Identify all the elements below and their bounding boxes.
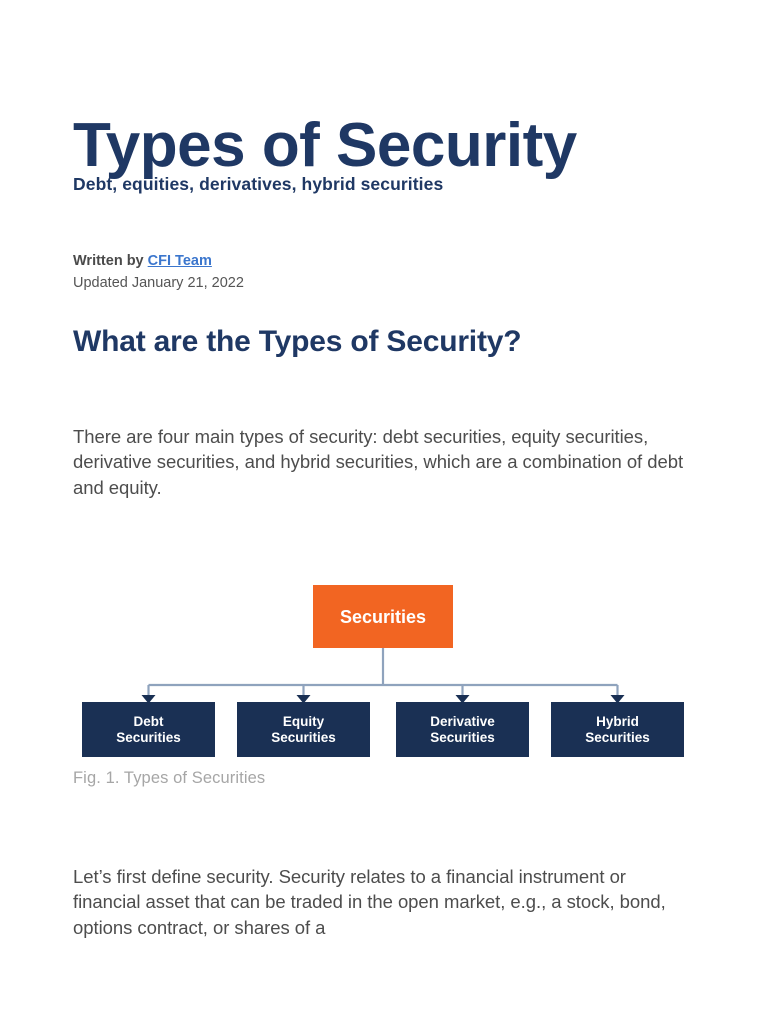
diagram-node-label: Debt Securities — [116, 714, 181, 746]
section-heading: What are the Types of Security? — [73, 323, 641, 361]
diagram-node-label: Equity Securities — [271, 714, 336, 746]
paragraph-definition: Let’s first define security. Security re… — [73, 864, 691, 941]
byline-prefix: Written by — [73, 253, 148, 269]
author-link[interactable]: CFI Team — [148, 253, 212, 269]
diagram-node-label: Hybrid Securities — [585, 714, 650, 746]
diagram-node-derivative-securities: Derivative Securities — [396, 702, 529, 757]
diagram-node-equity-securities: Equity Securities — [237, 702, 370, 757]
figure-types-of-securities: Securities Debt Securities Equity Securi… — [73, 575, 693, 795]
diagram-node-label: Securities — [340, 606, 426, 628]
diagram-node-debt-securities: Debt Securities — [82, 702, 215, 757]
diagram-node-hybrid-securities: Hybrid Securities — [551, 702, 684, 757]
diagram-node-securities: Securities — [313, 585, 453, 648]
securities-hierarchy-diagram: Securities Debt Securities Equity Securi… — [73, 575, 693, 760]
paragraph-intro: There are four main types of security: d… — [73, 424, 691, 501]
byline: Written by CFI Team — [73, 252, 212, 271]
figure-caption: Fig. 1. Types of Securities — [73, 767, 265, 789]
document-page: Types of Security Debt, equities, deriva… — [0, 0, 768, 1024]
page-title: Types of Security — [73, 110, 713, 182]
page-subtitle: Debt, equities, derivatives, hybrid secu… — [73, 172, 713, 196]
diagram-node-label: Derivative Securities — [430, 714, 495, 746]
updated-date: Updated January 21, 2022 — [73, 274, 244, 293]
